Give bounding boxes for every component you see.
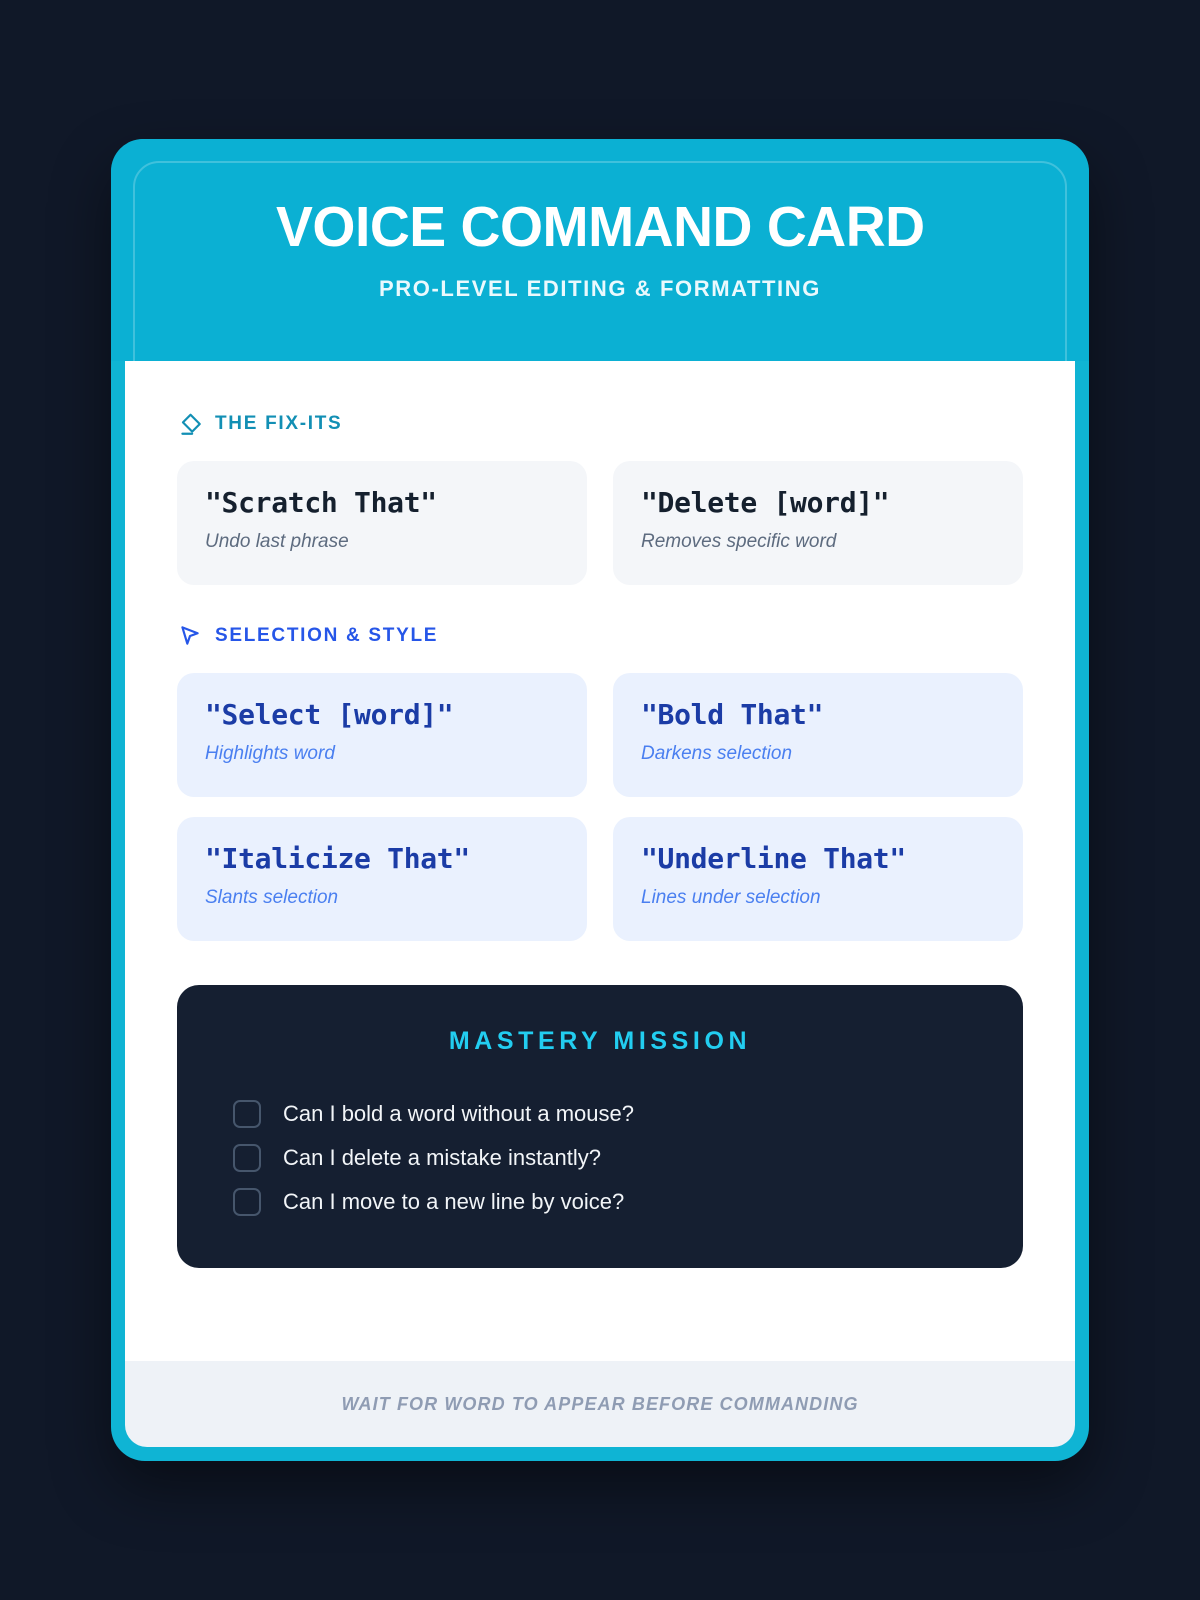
checklist-item[interactable]: Can I move to a new line by voice?	[221, 1180, 979, 1224]
command-grid-selection-style: "Select [word]" Highlights word "Bold Th…	[177, 673, 1023, 941]
command-title: "Delete [word]"	[641, 487, 995, 519]
command-title: "Bold That"	[641, 699, 995, 731]
checklist-item-label: Can I bold a word without a mouse?	[283, 1100, 634, 1128]
checklist-item[interactable]: Can I bold a word without a mouse?	[221, 1092, 979, 1136]
checkbox[interactable]	[233, 1188, 261, 1216]
command-description: Highlights word	[205, 743, 559, 766]
command-title: "Underline That"	[641, 843, 995, 875]
voice-command-card: VOICE COMMAND CARD PRO-LEVEL EDITING & F…	[111, 139, 1089, 1461]
checklist-item[interactable]: Can I delete a mistake instantly?	[221, 1136, 979, 1180]
command-grid-fix-its: "Scratch That" Undo last phrase "Delete …	[177, 461, 1023, 585]
checklist-item-label: Can I delete a mistake instantly?	[283, 1144, 601, 1172]
section-label-selection-style: SELECTION & STYLE	[215, 625, 438, 647]
card-header: VOICE COMMAND CARD PRO-LEVEL EDITING & F…	[111, 139, 1089, 361]
eraser-icon	[177, 411, 203, 437]
command-title: "Italicize That"	[205, 843, 559, 875]
command-card[interactable]: "Delete [word]" Removes specific word	[613, 461, 1023, 585]
checkbox[interactable]	[233, 1100, 261, 1128]
command-description: Darkens selection	[641, 743, 995, 766]
card-footer: WAIT FOR WORD TO APPEAR BEFORE COMMANDIN…	[125, 1361, 1075, 1447]
card-body: THE FIX-ITS "Scratch That" Undo last phr…	[125, 361, 1075, 1361]
checkbox[interactable]	[233, 1144, 261, 1172]
command-title: "Select [word]"	[205, 699, 559, 731]
cursor-pointer-icon	[177, 623, 203, 649]
command-title: "Scratch That"	[205, 487, 559, 519]
checklist-item-label: Can I move to a new line by voice?	[283, 1188, 624, 1216]
page-title: VOICE COMMAND CARD	[276, 199, 925, 256]
command-card[interactable]: "Select [word]" Highlights word	[177, 673, 587, 797]
command-card[interactable]: "Italicize That" Slants selection	[177, 817, 587, 941]
footer-tip-text: WAIT FOR WORD TO APPEAR BEFORE COMMANDIN…	[341, 1394, 858, 1415]
command-description: Undo last phrase	[205, 531, 559, 554]
section-spacer	[177, 585, 1023, 623]
command-card[interactable]: "Underline That" Lines under selection	[613, 817, 1023, 941]
page-subtitle: PRO-LEVEL EDITING & FORMATTING	[379, 276, 821, 302]
mastery-mission-panel: MASTERY MISSION Can I bold a word withou…	[177, 985, 1023, 1268]
command-description: Slants selection	[205, 887, 559, 910]
command-description: Lines under selection	[641, 887, 995, 910]
command-description: Removes specific word	[641, 531, 995, 554]
section-header-selection-style: SELECTION & STYLE	[177, 623, 1023, 649]
command-card[interactable]: "Scratch That" Undo last phrase	[177, 461, 587, 585]
section-header-fix-its: THE FIX-ITS	[177, 411, 1023, 437]
mastery-mission-title: MASTERY MISSION	[221, 1027, 979, 1056]
command-card[interactable]: "Bold That" Darkens selection	[613, 673, 1023, 797]
section-label-fix-its: THE FIX-ITS	[215, 413, 342, 435]
